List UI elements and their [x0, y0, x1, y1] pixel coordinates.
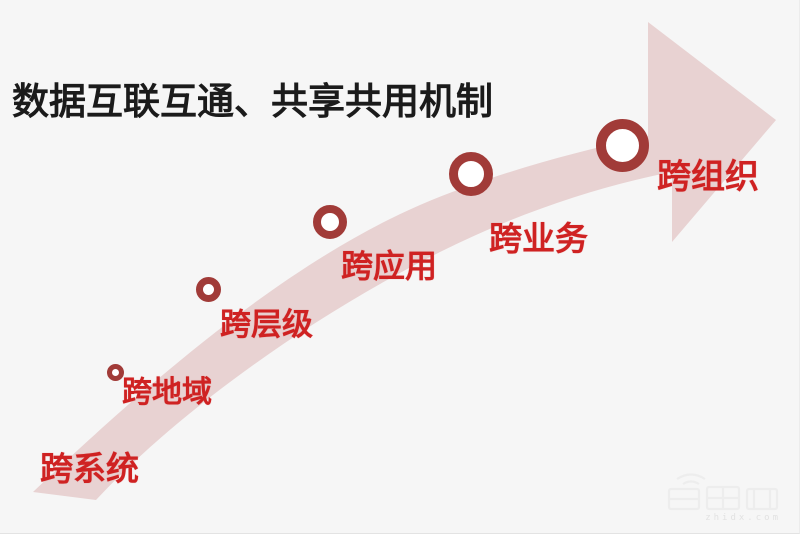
node-marker-kuayingyong — [313, 205, 347, 239]
page-title: 数据互联互通、共享共用机制 — [12, 82, 493, 123]
node-marker-kuazuzhi — [596, 119, 649, 172]
node-label-kuadiyu: 跨地域 — [122, 378, 212, 408]
node-label-kuazuzhi: 跨组织 — [657, 160, 759, 194]
node-marker-kuacengji — [196, 277, 221, 302]
node-label-kuayingyong: 跨应用 — [341, 250, 437, 282]
node-marker-kuayewu — [449, 152, 493, 196]
node-label-kuacengji: 跨层级 — [220, 310, 313, 341]
node-label-kuayewu: 跨业务 — [489, 222, 588, 255]
watermark-domain: zhidx.com — [705, 513, 781, 523]
node-label-kuaxitong: 跨系统 — [40, 452, 139, 485]
diagram-canvas: 数据互联互通、共享共用机制 跨系统 跨地域 跨层级 跨应用 跨业务 跨组织 zh… — [0, 0, 800, 534]
